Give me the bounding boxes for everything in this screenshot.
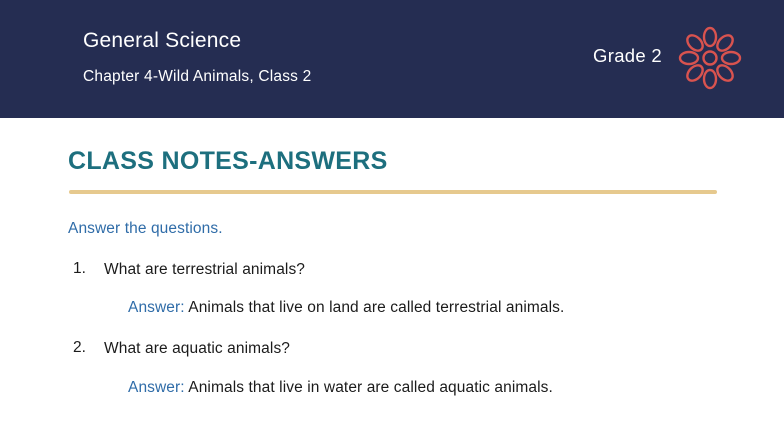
question-list: 1. What are terrestrial animals? Answer:… [68, 260, 716, 398]
answer-line: Answer: Animals that live in water are c… [104, 378, 716, 397]
answer-text: Animals that live on land are called ter… [188, 299, 564, 316]
grade-label: Grade 2 [593, 45, 662, 67]
page-content: CLASS NOTES-ANSWERS Answer the questions… [0, 148, 784, 397]
list-item: 2. What are aquatic animals? Answer: Ani… [68, 339, 716, 397]
page-title: CLASS NOTES-ANSWERS [68, 148, 716, 176]
question-text: What are aquatic animals? [104, 340, 290, 357]
answer-label: Answer: [128, 379, 185, 396]
instruction-text: Answer the questions. [68, 220, 716, 238]
page-header: General Science Chapter 4-Wild Animals, … [0, 0, 784, 118]
answer-text: Animals that live in water are called aq… [188, 379, 553, 396]
question-number: 2. [73, 339, 86, 357]
chapter-title: Chapter 4-Wild Animals, Class 2 [83, 68, 311, 87]
answer-line: Answer: Animals that live on land are ca… [104, 298, 716, 317]
worksheet-page: General Science Chapter 4-Wild Animals, … [0, 0, 784, 441]
question-text: What are terrestrial animals? [104, 261, 305, 278]
answer-label: Answer: [128, 299, 185, 316]
subject-title: General Science [83, 28, 311, 53]
question-number: 1. [73, 260, 86, 278]
flower-rosette-icon [678, 26, 742, 90]
header-titles: General Science Chapter 4-Wild Animals, … [83, 28, 311, 87]
list-item: 1. What are terrestrial animals? Answer:… [68, 260, 716, 318]
title-divider [69, 190, 717, 194]
